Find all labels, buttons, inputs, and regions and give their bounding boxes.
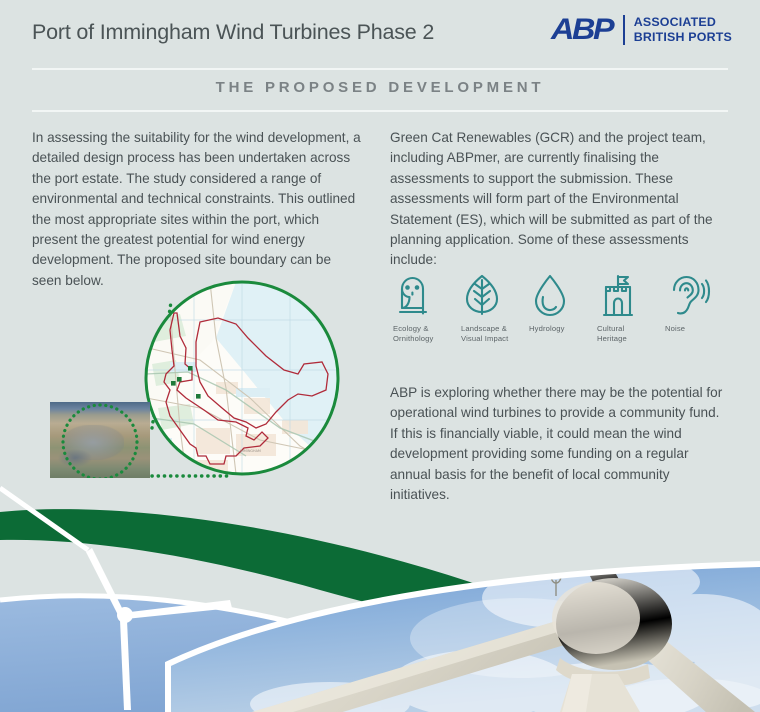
header: Port of Immingham Wind Turbines Phase 2 … [0, 0, 760, 62]
abp-logo: ABP ASSOCIATED BRITISH PORTS [551, 15, 732, 45]
owl-icon [393, 273, 439, 319]
assessment-item-hydrology: Hydrology [529, 273, 597, 344]
logo-line-2: BRITISH PORTS [634, 30, 732, 45]
assessment-label: Ecology &Ornithology [393, 324, 461, 344]
left-paragraph: In assessing the suitability for the win… [32, 128, 362, 291]
aerial-photo-highlight-circle [50, 402, 150, 478]
ear-icon [665, 273, 711, 319]
assessment-item-cultural: CulturalHeritage [597, 273, 665, 344]
abp-logo-mark: ABP [551, 15, 612, 45]
leaf-icon [461, 273, 507, 319]
logo-wordmark: ASSOCIATED BRITISH PORTS [634, 15, 732, 45]
bottom-artwork [0, 478, 760, 712]
assessment-item-noise: Noise [665, 273, 733, 344]
assessment-item-landscape: Landscape &Visual Impact [461, 273, 529, 344]
assessment-icon-row: Ecology &Ornithology Landscape &Visual I… [393, 273, 733, 344]
poster-root: Port of Immingham Wind Turbines Phase 2 … [0, 0, 760, 712]
assessment-item-ecology: Ecology &Ornithology [393, 273, 461, 344]
right-paragraph: Green Cat Renewables (GCR) and the proje… [390, 128, 720, 271]
logo-line-1: ASSOCIATED [634, 15, 732, 30]
page-title: Port of Immingham Wind Turbines Phase 2 [32, 20, 434, 45]
left-column: In assessing the suitability for the win… [32, 128, 362, 291]
water-drop-icon [529, 273, 575, 319]
assessment-label: Landscape &Visual Impact [461, 324, 529, 344]
castle-icon [597, 273, 643, 319]
section-heading: THE PROPOSED DEVELOPMENT [0, 79, 760, 96]
divider-top [32, 68, 728, 70]
divider-bottom [32, 110, 728, 112]
bottom-graphic [0, 478, 760, 712]
map-place-label: IMMINGHAM [240, 449, 261, 453]
assessment-label: CulturalHeritage [597, 324, 665, 344]
right-column: Green Cat Renewables (GCR) and the proje… [390, 128, 720, 271]
turbine-hub-highlight [552, 582, 640, 654]
logo-divider [623, 15, 625, 45]
assessment-label: Noise [665, 324, 733, 334]
assessment-label: Hydrology [529, 324, 597, 334]
